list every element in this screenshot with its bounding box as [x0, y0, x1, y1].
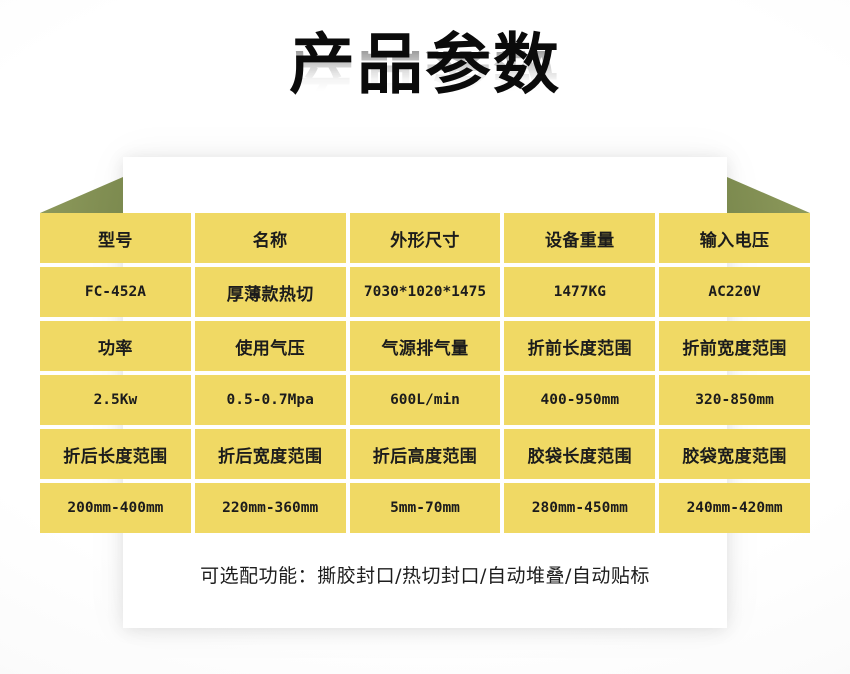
table-header-cell: 型号	[40, 213, 191, 263]
table-value-cell: 220mm-360mm	[195, 483, 346, 533]
table-value-cell: 400-950mm	[504, 375, 655, 425]
table-value-cell: AC220V	[659, 267, 810, 317]
table-row: FC-452A厚薄款热切7030*1020*14751477KGAC220V	[40, 267, 810, 317]
table-value-cell: 厚薄款热切	[195, 267, 346, 317]
table-value-cell: 280mm-450mm	[504, 483, 655, 533]
optional-features-note: 可选配功能：撕胶封口/热切封口/自动堆叠/自动贴标	[123, 563, 727, 589]
table-header-cell: 胶袋宽度范围	[659, 429, 810, 479]
table-value-cell: 0.5-0.7Mpa	[195, 375, 346, 425]
table-value-cell: 240mm-420mm	[659, 483, 810, 533]
table-row: 折后长度范围折后宽度范围折后高度范围胶袋长度范围胶袋宽度范围	[40, 429, 810, 479]
table-value-cell: 1477KG	[504, 267, 655, 317]
table-header-cell: 折前宽度范围	[659, 321, 810, 371]
spec-table: 型号名称外形尺寸设备重量输入电压FC-452A厚薄款热切7030*1020*14…	[40, 213, 810, 533]
table-value-cell: 320-850mm	[659, 375, 810, 425]
table-value-cell: 2.5Kw	[40, 375, 191, 425]
table-header-cell: 折后宽度范围	[195, 429, 346, 479]
table-row: 型号名称外形尺寸设备重量输入电压	[40, 213, 810, 263]
table-header-cell: 外形尺寸	[350, 213, 501, 263]
table-value-cell: FC-452A	[40, 267, 191, 317]
table-header-cell: 设备重量	[504, 213, 655, 263]
table-value-cell: 5mm-70mm	[350, 483, 501, 533]
table-header-cell: 折后长度范围	[40, 429, 191, 479]
table-header-cell: 气源排气量	[350, 321, 501, 371]
table-row: 2.5Kw0.5-0.7Mpa600L/min400-950mm320-850m…	[40, 375, 810, 425]
table-row: 200mm-400mm220mm-360mm5mm-70mm280mm-450m…	[40, 483, 810, 533]
table-value-cell: 200mm-400mm	[40, 483, 191, 533]
table-header-cell: 胶袋长度范围	[504, 429, 655, 479]
table-header-cell: 输入电压	[659, 213, 810, 263]
table-header-cell: 折后高度范围	[350, 429, 501, 479]
table-value-cell: 600L/min	[350, 375, 501, 425]
table-header-cell: 使用气压	[195, 321, 346, 371]
table-row: 功率使用气压气源排气量折前长度范围折前宽度范围	[40, 321, 810, 371]
table-value-cell: 7030*1020*1475	[350, 267, 501, 317]
table-header-cell: 功率	[40, 321, 191, 371]
table-header-cell: 折前长度范围	[504, 321, 655, 371]
table-header-cell: 名称	[195, 213, 346, 263]
